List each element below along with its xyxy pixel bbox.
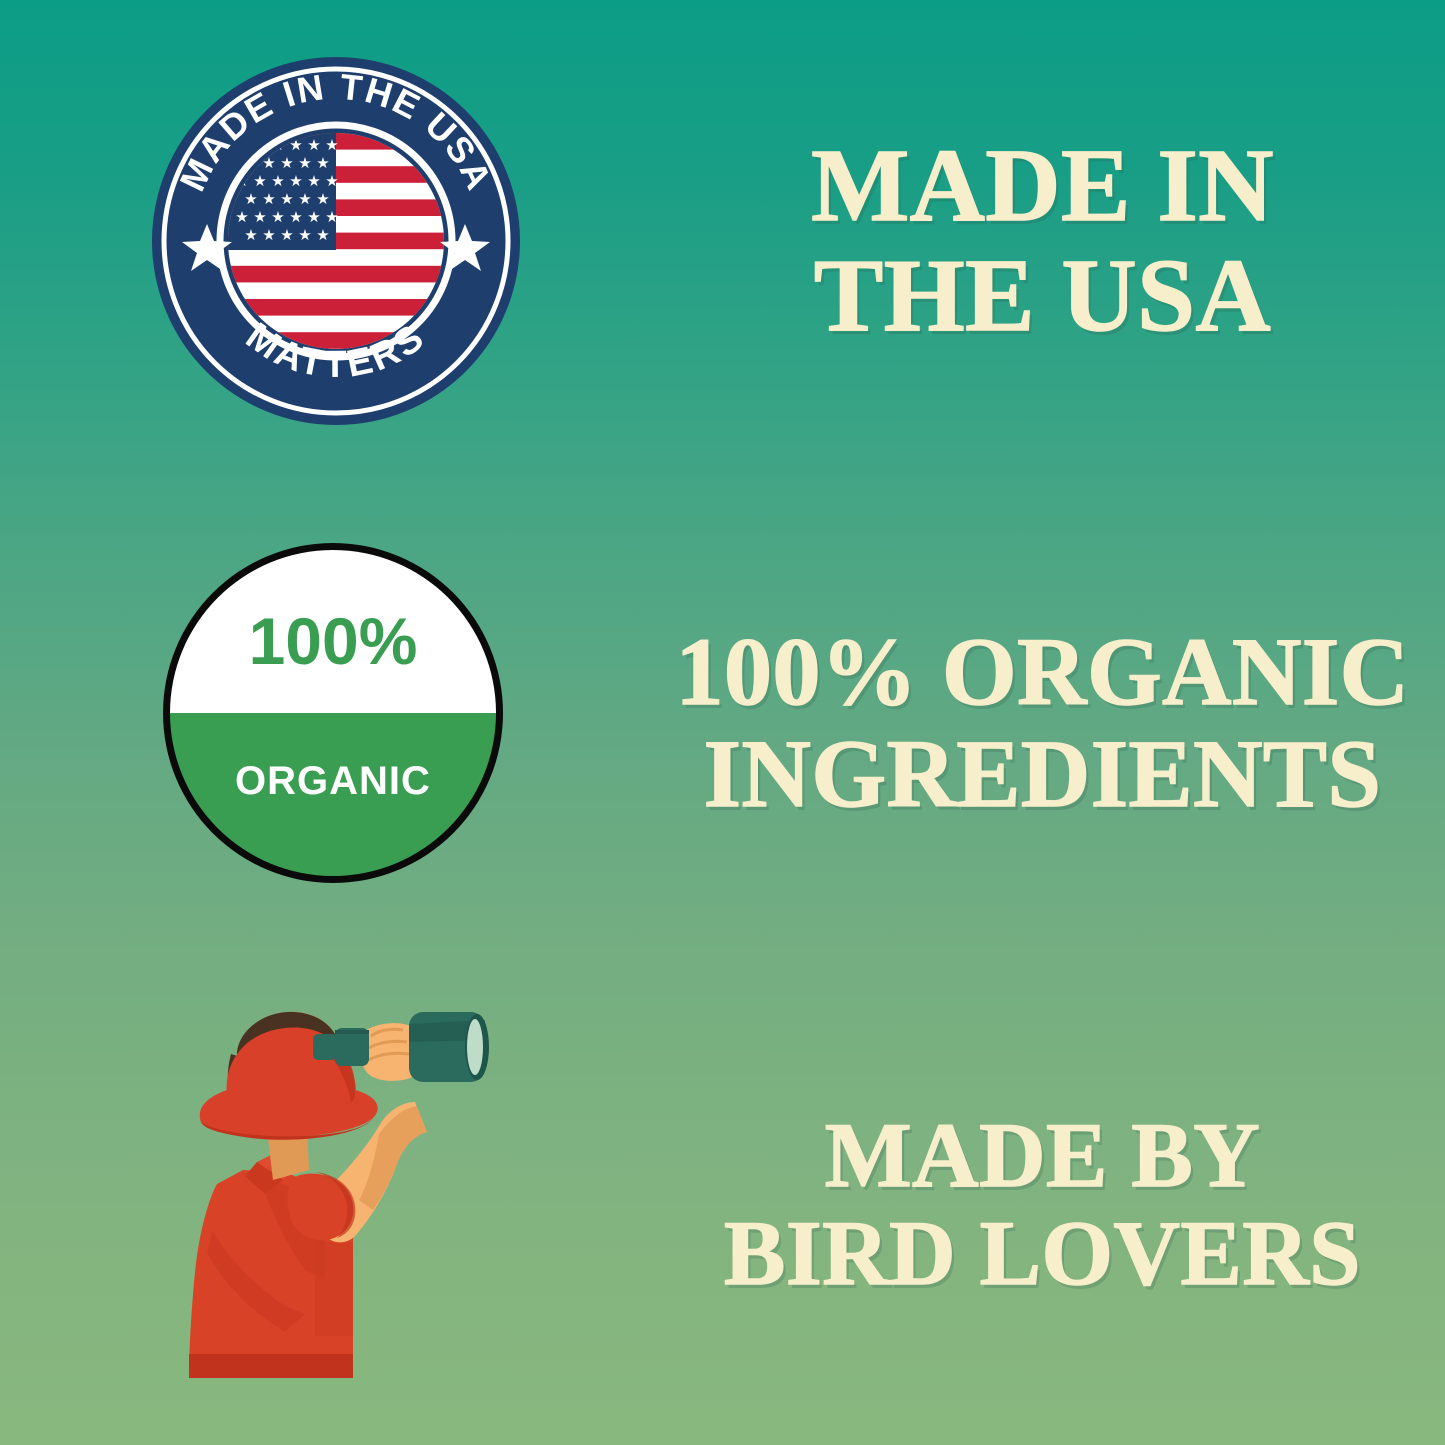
svg-text:★: ★: [307, 136, 320, 154]
organic-word-label: ORGANIC: [235, 759, 431, 803]
svg-text:★: ★: [325, 136, 338, 154]
svg-text:★: ★: [289, 208, 302, 226]
svg-text:★: ★: [316, 190, 329, 208]
birdwatcher-cell: [0, 964, 640, 1445]
svg-text:★: ★: [253, 172, 266, 190]
infographic-page: ★★★ ★★★ ★★★ ★★ ★★★ ★★★ ★★★ ★★ ★★★ ★★★ ★★…: [0, 0, 1445, 1445]
svg-text:★: ★: [244, 190, 257, 208]
birdwatcher-illustration-icon: [165, 984, 525, 1404]
svg-text:★: ★: [235, 208, 248, 226]
svg-text:★: ★: [307, 172, 320, 190]
svg-text:★: ★: [262, 190, 275, 208]
usa-text-cell: MADE IN THE USA: [640, 0, 1445, 482]
headline-line-1: MADE IN: [811, 131, 1274, 241]
svg-text:★: ★: [271, 172, 284, 190]
headline-line-1: MADE BY: [724, 1107, 1361, 1205]
svg-text:★: ★: [280, 226, 293, 244]
svg-text:★: ★: [244, 226, 257, 244]
bird-text-cell: MADE BY BIRD LOVERS: [640, 964, 1445, 1445]
organic-text-cell: 100% ORGANIC INGREDIENTS: [640, 482, 1445, 964]
svg-text:★: ★: [298, 226, 311, 244]
organic-percent-label: 100%: [249, 604, 418, 678]
svg-text:★: ★: [289, 172, 302, 190]
svg-text:★: ★: [280, 190, 293, 208]
svg-text:★: ★: [298, 190, 311, 208]
svg-text:★: ★: [253, 208, 266, 226]
usa-flag-icon: ★★★ ★★★ ★★★ ★★ ★★★ ★★★ ★★★ ★★ ★★★ ★★★ ★★…: [228, 133, 444, 349]
usa-badge-cell: ★★★ ★★★ ★★★ ★★ ★★★ ★★★ ★★★ ★★ ★★★ ★★★ ★★…: [0, 0, 640, 482]
svg-text:★: ★: [298, 154, 311, 172]
headline-line-1: 100% ORGANIC: [675, 621, 1409, 723]
headline-line-2: THE USA: [811, 241, 1274, 351]
headline-line-2: BIRD LOVERS: [724, 1205, 1361, 1303]
svg-text:★: ★: [262, 226, 275, 244]
organic-badge-icon: 100% ORGANIC: [160, 540, 506, 886]
organic-headline: 100% ORGANIC INGREDIENTS: [675, 621, 1409, 825]
organic-badge-cell: 100% ORGANIC: [0, 482, 640, 964]
svg-text:★: ★: [280, 154, 293, 172]
bird-lovers-headline: MADE BY BIRD LOVERS: [724, 1107, 1361, 1302]
svg-text:★: ★: [316, 154, 329, 172]
made-in-usa-seal-icon: ★★★ ★★★ ★★★ ★★ ★★★ ★★★ ★★★ ★★ ★★★ ★★★ ★★…: [150, 55, 522, 427]
svg-text:★: ★: [316, 226, 329, 244]
svg-text:★: ★: [271, 208, 284, 226]
headline-line-2: INGREDIENTS: [675, 723, 1409, 825]
feature-row-bird-lovers: MADE BY BIRD LOVERS: [0, 964, 1445, 1445]
svg-text:★: ★: [325, 208, 338, 226]
feature-row-made-in-usa: ★★★ ★★★ ★★★ ★★ ★★★ ★★★ ★★★ ★★ ★★★ ★★★ ★★…: [0, 0, 1445, 482]
feature-row-organic: 100% ORGANIC 100% ORGANIC INGREDIENTS: [0, 482, 1445, 964]
made-in-usa-headline: MADE IN THE USA: [811, 131, 1274, 351]
svg-text:★: ★: [307, 208, 320, 226]
svg-text:★: ★: [325, 172, 338, 190]
